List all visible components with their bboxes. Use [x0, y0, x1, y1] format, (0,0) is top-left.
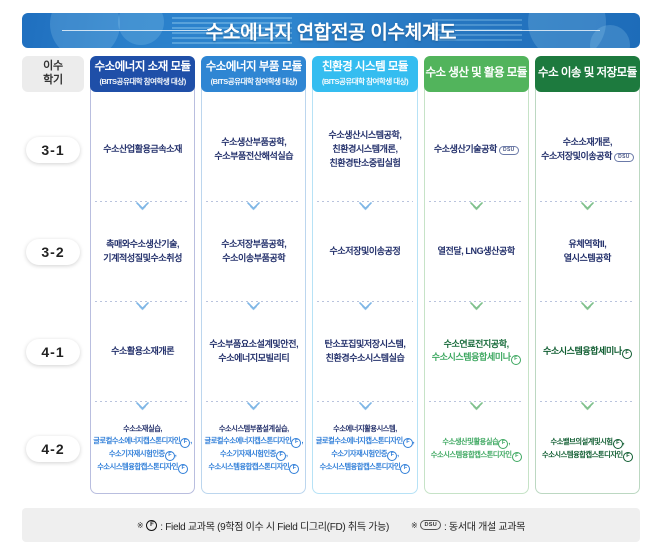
- course-line: 수소소재개론,: [541, 136, 634, 150]
- course-cell-text: 수소시스템융합세미나F: [543, 345, 632, 359]
- course-cell[interactable]: 탄소포집및저장시스템,친환경수소시스템실습: [312, 303, 417, 400]
- chevron-down-icon: [136, 198, 149, 207]
- chevron-down-icon: [359, 298, 372, 307]
- chevron-down-icon: [359, 398, 372, 407]
- semester-header-line: 이수: [43, 60, 63, 74]
- field-badge-icon: F: [291, 438, 301, 448]
- chevron-down-icon: [581, 198, 594, 207]
- course-name: 수소소재실습,: [123, 424, 162, 433]
- module-title: 수소 생산 및 활용 모듈: [425, 67, 527, 80]
- course-cell[interactable]: 수소활용소재개론: [90, 303, 195, 400]
- field-badge-icon: F: [146, 520, 157, 531]
- course-name: 수소시스템융합캡스톤디자인: [431, 450, 512, 459]
- course-name: 탄소포집및저장시스템,: [325, 339, 406, 349]
- chevron-down-icon: [470, 298, 483, 307]
- course-name: 수소시스템융합캡스톤디자인: [542, 450, 623, 459]
- course-cell[interactable]: 수소저장부품공학,수소이송부품공학: [201, 203, 306, 300]
- course-cell[interactable]: 수소밸브의설계및시험F,수소시스템융합캡스톤디자인F: [535, 403, 640, 494]
- course-line: 유체역학II,: [564, 238, 611, 252]
- title-banner: 수소에너지 연합전공 이수체계도: [22, 13, 640, 48]
- module-column-header[interactable]: 수소에너지 소재 모듈(BITS공유대학 참여학생 대상): [90, 56, 195, 92]
- course-line: 수소기자재시험인증F,: [204, 448, 303, 461]
- course-cell-text: 수소시스템부품설계실습,글로컬수소에너지캡스톤디자인F,수소기자재시험인증F,수…: [204, 423, 303, 474]
- course-line: 수소소재실습,: [93, 423, 192, 435]
- course-name: 수소부품요소설계및안전,: [209, 339, 298, 349]
- semester-header-line: 학기: [43, 74, 63, 88]
- semester-pill-4-1: 4-1: [26, 339, 80, 365]
- course-name: 열전달, LNG생산공학: [438, 246, 515, 256]
- course-cell[interactable]: 수소시스템융합세미나F: [535, 303, 640, 400]
- chevron-down-icon: [359, 198, 372, 207]
- course-name: 수소시스템융합세미나: [543, 346, 622, 356]
- course-line: 수소연료전지공학,: [432, 338, 521, 352]
- course-name: 수소연료전지공학,: [444, 339, 509, 349]
- course-name: 수소에너지모빌리티: [218, 353, 289, 363]
- course-line: 친환경탄소중립실험: [328, 157, 401, 171]
- course-cell[interactable]: 수소산업활용금속소재: [90, 100, 195, 200]
- course-cell-text: 수소저장및이송공정: [330, 245, 401, 259]
- module-title: 수소 이송 및 저장모듈: [538, 67, 637, 80]
- field-badge-icon: F: [165, 451, 175, 461]
- course-line: 수소부품전산해석실습: [214, 150, 293, 164]
- course-line: 글로컬수소에너지캡스톤디자인F,: [93, 435, 192, 448]
- module-column-header[interactable]: 수소에너지 부품 모듈(BITS공유대학 참여학생 대상): [201, 56, 306, 92]
- course-line: 수소에너지모빌리티: [209, 352, 298, 366]
- course-name: ,: [623, 437, 625, 446]
- course-cell-text: 탄소포집및저장시스템,친환경수소시스템실습: [325, 338, 406, 366]
- course-name: ,: [175, 449, 177, 458]
- chevron-down-icon: [136, 298, 149, 307]
- course-name: ,: [301, 436, 303, 445]
- course-name: 수소저장및이송공정: [330, 246, 401, 256]
- course-line: 수소에너지활용시스템,: [316, 423, 415, 435]
- course-name: 수소시스템융합캡스톤디자인: [208, 462, 289, 471]
- legend-item-2: ※DSU: 동서대 개설 교과목: [411, 518, 525, 533]
- semester-column-header: 이수학기: [22, 56, 84, 92]
- course-line: 탄소포집및저장시스템,: [325, 338, 406, 352]
- course-line: 수소기자재시험인증F,: [93, 448, 192, 461]
- field-badge-icon: F: [178, 464, 188, 474]
- course-line: 수소활용소재개론: [111, 345, 174, 359]
- course-line: 수소생산부품공학,: [214, 136, 293, 150]
- course-name: 수소이송부품공학: [222, 253, 285, 263]
- course-name: 수소에너지활용시스템,: [333, 424, 397, 433]
- course-cell-text: 수소활용소재개론: [111, 345, 174, 359]
- course-cell-text: 수소밸브의설계및시험F,수소시스템융합캡스톤디자인F: [542, 436, 633, 462]
- course-cell[interactable]: 수소소재실습,글로컬수소에너지캡스톤디자인F,수소기자재시험인증F,수소시스템융…: [90, 403, 195, 494]
- course-name: 수소저장부품공학,: [221, 239, 286, 249]
- chevron-down-icon: [247, 398, 260, 407]
- legend-item-1: ※F: Field 교과목 (9학점 이수 시 Field 디그리(FD) 취득…: [137, 518, 389, 533]
- course-line: 수소시스템부품설계실습,: [204, 423, 303, 435]
- course-cell-text: 수소소재개론,수소저장및이송공학 DSU: [541, 136, 634, 164]
- semester-pill-4-2: 4-2: [26, 436, 80, 462]
- course-cell-text: 수소산업활용금속소재: [103, 143, 182, 157]
- legend-asterisk-icon: ※: [411, 521, 417, 530]
- field-badge-icon: F: [387, 451, 397, 461]
- semester-pill-3-1: 3-1: [26, 137, 80, 163]
- course-cell-text: 수소부품요소설계및안전,수소에너지모빌리티: [209, 338, 298, 366]
- course-cell-text: 수소생산시스템공학,친환경시스템개론,친환경탄소중립실험: [328, 129, 401, 171]
- course-name: 친환경시스템개론,: [332, 144, 397, 154]
- course-name: 수소부품전산해석실습: [214, 151, 293, 161]
- semester-pill-3-2: 3-2: [26, 239, 80, 265]
- course-cell-text: 수소소재실습,글로컬수소에너지캡스톤디자인F,수소기자재시험인증F,수소시스템융…: [93, 423, 192, 474]
- field-badge-icon: F: [180, 438, 190, 448]
- course-name: 수소시스템융합캡스톤디자인: [97, 462, 178, 471]
- course-name: 수소저장및이송공학: [541, 151, 614, 161]
- course-name: 수소밸브의설계및시험: [551, 437, 613, 446]
- course-line: 수소생산시스템공학,: [328, 129, 401, 143]
- course-line: 수소시스템융합캡스톤디자인F: [316, 461, 415, 474]
- course-cell[interactable]: 수소연료전지공학,수소시스템융합세미나F: [424, 303, 529, 400]
- chevron-down-icon: [247, 198, 260, 207]
- hydrogen-curriculum-diagram: 수소에너지 연합전공 이수체계도 이수학기수소에너지 소재 모듈(BITS공유대…: [0, 0, 662, 556]
- course-name: 기계적성질및수소취성: [103, 253, 182, 263]
- field-badge-icon: F: [276, 451, 286, 461]
- module-subtitle: (BITS공유대학 참여학생 대상): [322, 76, 408, 87]
- dsu-badge-icon: DSU: [420, 520, 441, 530]
- course-line: 수소밸브의설계및시험F,: [542, 436, 633, 449]
- chevron-down-icon: [247, 298, 260, 307]
- course-cell[interactable]: 유체역학II,열시스템공학: [535, 203, 640, 300]
- legend-text: : 동서대 개설 교과목: [444, 518, 525, 533]
- field-badge-icon: F: [622, 349, 632, 359]
- course-line: 수소산업활용금속소재: [103, 143, 182, 157]
- course-cell-text: 유체역학II,열시스템공학: [564, 238, 611, 266]
- chevron-down-icon: [581, 298, 594, 307]
- field-badge-icon: F: [511, 355, 521, 365]
- field-badge-icon: F: [512, 452, 522, 462]
- course-name: ,: [413, 436, 415, 445]
- module-column-header[interactable]: 수소 생산 및 활용 모듈: [424, 56, 529, 92]
- course-line: 기계적성질및수소취성: [103, 252, 182, 266]
- course-cell[interactable]: 수소에너지활용시스템,글로컬수소에너지캡스톤디자인F,수소기자재시험인증F,수소…: [312, 403, 417, 494]
- course-line: 수소시스템융합캡스톤디자인F: [431, 449, 522, 462]
- course-name: 글로컬수소에너지캡스톤디자인: [204, 436, 291, 445]
- course-cell-text: 열전달, LNG생산공학: [438, 245, 515, 259]
- course-cell-text: 수소생산부품공학,수소부품전산해석실습: [214, 136, 293, 164]
- course-name: 수소생산기술공학: [434, 144, 499, 154]
- course-name: 수소시스템부품설계실습,: [219, 424, 289, 433]
- course-line: 수소생산및활용실습F,: [431, 436, 522, 449]
- curriculum-grid: 이수학기수소에너지 소재 모듈(BITS공유대학 참여학생 대상)수소에너지 부…: [22, 56, 640, 494]
- field-badge-icon: F: [498, 439, 508, 449]
- course-name: 촉매와수소생산기술,: [106, 239, 179, 249]
- semester-column: 이수학기: [22, 56, 84, 494]
- course-line: 열전달, LNG생산공학: [438, 245, 515, 259]
- course-cell-text: 수소생산기술공학 DSU: [434, 143, 519, 157]
- course-name: 수소생산및활용실습: [442, 437, 498, 446]
- course-name: 수소시스템융합캡스톤디자인: [320, 462, 401, 471]
- page-title: 수소에너지 연합전공 이수체계도: [22, 17, 640, 44]
- course-line: 수소저장및이송공정: [330, 245, 401, 259]
- course-name: ,: [397, 449, 399, 458]
- course-name: 수소생산시스템공학,: [328, 130, 401, 140]
- course-name: 수소기자재시험인증: [331, 449, 387, 458]
- module-subtitle: (BITS공유대학 참여학생 대상): [211, 76, 297, 87]
- course-name: 수소활용소재개론: [111, 346, 174, 356]
- course-name: 수소생산부품공학,: [221, 137, 286, 147]
- course-line: 친환경시스템개론,: [328, 143, 401, 157]
- course-cell-text: 촉매와수소생산기술,기계적성질및수소취성: [103, 238, 182, 266]
- course-cell-text: 수소에너지활용시스템,글로컬수소에너지캡스톤디자인F,수소기자재시험인증F,수소…: [316, 423, 415, 474]
- course-line: 수소시스템융합세미나F: [432, 351, 521, 365]
- course-cell[interactable]: 열전달, LNG생산공학: [424, 203, 529, 300]
- course-name: ,: [286, 449, 288, 458]
- course-line: 글로컬수소에너지캡스톤디자인F,: [316, 435, 415, 448]
- course-line: 수소시스템융합캡스톤디자인F: [542, 449, 633, 462]
- course-line: 촉매와수소생산기술,: [103, 238, 182, 252]
- field-badge-icon: F: [623, 452, 633, 462]
- course-cell[interactable]: 수소소재개론,수소저장및이송공학 DSU: [535, 100, 640, 200]
- course-line: 수소저장및이송공학 DSU: [541, 150, 634, 164]
- course-line: 수소저장부품공학,: [221, 238, 286, 252]
- course-line: 수소부품요소설계및안전,: [209, 338, 298, 352]
- course-name: 수소기자재시험인증: [220, 449, 276, 458]
- course-name: 수소시스템융합세미나: [432, 352, 511, 362]
- course-cell-text: 수소생산및활용실습F,수소시스템융합캡스톤디자인F: [431, 436, 522, 462]
- course-cell[interactable]: 수소저장및이송공정: [312, 203, 417, 300]
- course-name: 유체역학II,: [568, 239, 606, 249]
- course-line: 글로컬수소에너지캡스톤디자인F,: [204, 435, 303, 448]
- course-name: 열시스템공학: [564, 253, 611, 263]
- dsu-badge-icon: DSU: [499, 146, 518, 155]
- course-name: 친환경수소시스템실습: [326, 353, 405, 363]
- course-name: 글로컬수소에너지캡스톤디자인: [316, 436, 403, 445]
- field-badge-icon: F: [400, 464, 410, 474]
- course-line: 친환경수소시스템실습: [325, 352, 406, 366]
- module-column-header[interactable]: 수소 이송 및 저장모듈: [535, 56, 640, 92]
- chevron-down-icon: [470, 398, 483, 407]
- course-name: 수소산업활용금속소재: [103, 144, 182, 154]
- module-subtitle: (BITS공유대학 참여학생 대상): [99, 76, 185, 87]
- course-line: 열시스템공학: [564, 252, 611, 266]
- course-cell[interactable]: 수소생산및활용실습F,수소시스템융합캡스톤디자인F: [424, 403, 529, 494]
- chevron-down-icon: [581, 398, 594, 407]
- chevron-down-icon: [136, 398, 149, 407]
- course-line: 수소기자재시험인증F,: [316, 448, 415, 461]
- course-cell-text: 수소연료전지공학,수소시스템융합세미나F: [432, 338, 521, 366]
- dsu-badge-icon: DSU: [614, 153, 633, 162]
- legend-asterisk-icon: ※: [137, 521, 143, 530]
- course-name: ,: [190, 436, 192, 445]
- module-column-header[interactable]: 친환경 시스템 모듈(BITS공유대학 참여학생 대상): [312, 56, 417, 92]
- course-name: 수소소재개론,: [563, 137, 612, 147]
- course-cell[interactable]: 수소시스템부품설계실습,글로컬수소에너지캡스톤디자인F,수소기자재시험인증F,수…: [201, 403, 306, 494]
- course-cell[interactable]: 촉매와수소생산기술,기계적성질및수소취성: [90, 203, 195, 300]
- course-name: 글로컬수소에너지캡스톤디자인: [93, 436, 180, 445]
- field-badge-icon: F: [403, 438, 413, 448]
- chevron-down-icon: [470, 198, 483, 207]
- module-title: 수소에너지 부품 모듈: [206, 61, 302, 74]
- field-badge-icon: F: [289, 464, 299, 474]
- module-title: 친환경 시스템 모듈: [322, 61, 408, 74]
- course-line: 수소생산기술공학 DSU: [434, 143, 519, 157]
- legend-bar: ※F: Field 교과목 (9학점 이수 시 Field 디그리(FD) 취득…: [22, 508, 640, 542]
- course-line: 수소시스템융합세미나F: [543, 345, 632, 359]
- course-line: 수소이송부품공학: [221, 252, 286, 266]
- course-cell-text: 수소저장부품공학,수소이송부품공학: [221, 238, 286, 266]
- field-badge-icon: F: [613, 439, 623, 449]
- course-name: 수소기자재시험인증: [109, 449, 165, 458]
- module-title: 수소에너지 소재 모듈: [95, 61, 191, 74]
- course-name: 친환경탄소중립실험: [330, 158, 401, 168]
- course-cell[interactable]: 수소부품요소설계및안전,수소에너지모빌리티: [201, 303, 306, 400]
- legend-text: : Field 교과목 (9학점 이수 시 Field 디그리(FD) 취득 가…: [160, 518, 389, 533]
- course-line: 수소시스템융합캡스톤디자인F: [93, 461, 192, 474]
- course-cell[interactable]: 수소생산시스템공학,친환경시스템개론,친환경탄소중립실험: [312, 100, 417, 200]
- course-line: 수소시스템융합캡스톤디자인F: [204, 461, 303, 474]
- course-cell[interactable]: 수소생산기술공학 DSU: [424, 100, 529, 200]
- course-cell[interactable]: 수소생산부품공학,수소부품전산해석실습: [201, 100, 306, 200]
- course-name: ,: [508, 437, 510, 446]
